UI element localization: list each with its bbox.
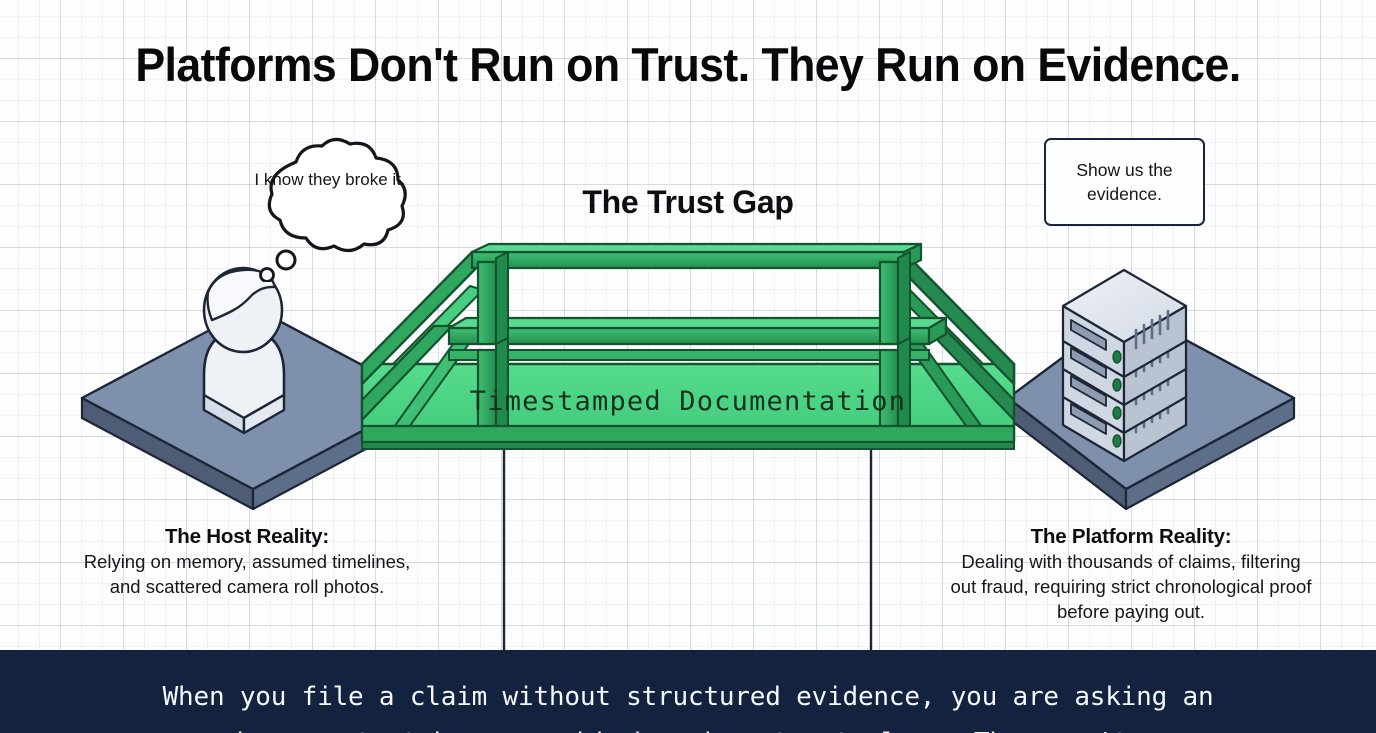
platform-reality-caption: The Platform Reality: Dealing with thous… xyxy=(950,523,1312,624)
server-stack-icon xyxy=(1063,270,1186,461)
bridge-deck-label: Timestamped Documentation xyxy=(470,386,906,417)
trust-gap-heading: The Trust Gap xyxy=(488,184,888,221)
bottom-banner: When you file a claim without structured… xyxy=(0,650,1376,733)
banner-text: When you file a claim without structured… xyxy=(123,674,1253,733)
host-caption-body: Relying on memory, assumed timelines, an… xyxy=(82,550,412,600)
platform-evidence-box: Show us the evidence. xyxy=(1044,138,1205,226)
evidence-box-text: Show us the evidence. xyxy=(1046,158,1203,206)
host-caption-title: The Host Reality: xyxy=(82,523,412,550)
thought-bubble-text: I know they broke it. xyxy=(246,168,414,191)
host-reality-caption: The Host Reality: Relying on memory, ass… xyxy=(82,523,412,600)
infographic-stage: Platforms Don't Run on Trust. They Run o… xyxy=(0,0,1376,733)
platform-caption-body: Dealing with thousands of claims, filter… xyxy=(950,550,1312,624)
thought-bubble-icon xyxy=(246,136,414,282)
platform-caption-title: The Platform Reality: xyxy=(950,523,1312,550)
host-thought-bubble: I know they broke it. xyxy=(246,136,414,282)
person-icon xyxy=(204,268,284,433)
bridge-drop-lines xyxy=(504,440,871,650)
evidence-bridge: Timestamped Documentation xyxy=(362,244,1014,449)
